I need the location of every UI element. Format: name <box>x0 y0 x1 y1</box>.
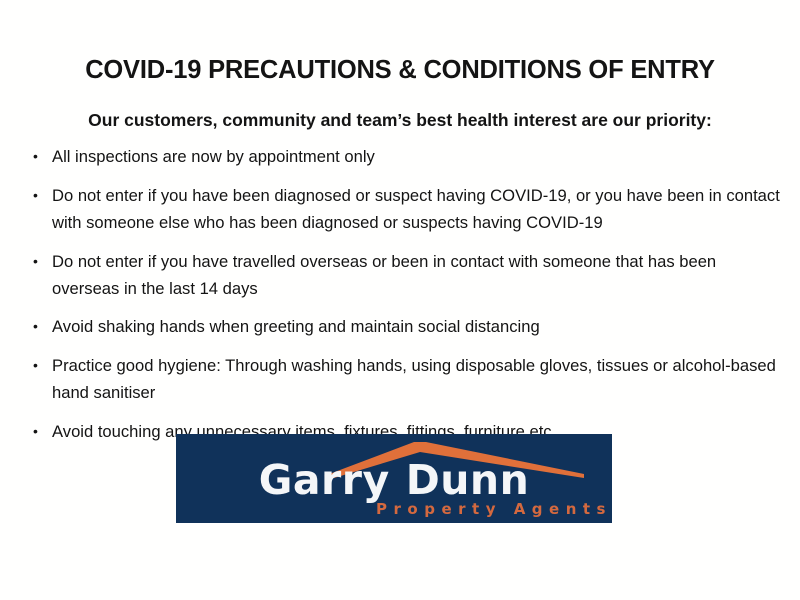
list-item-text: Practice good hygiene: Through washing h… <box>52 353 780 407</box>
list-item-text: Avoid shaking hands when greeting and ma… <box>52 314 780 341</box>
list-item: • Avoid shaking hands when greeting and … <box>28 314 780 341</box>
list-item-text: Do not enter if you have been diagnosed … <box>52 183 780 237</box>
precautions-list: • All inspections are now by appointment… <box>28 144 780 458</box>
logo-tagline: Property Agents <box>238 500 612 518</box>
bullet-marker-icon: • <box>33 353 38 377</box>
logo-name-last: Dunn <box>406 456 530 504</box>
logo-name-first: Garry <box>259 456 390 504</box>
list-item: • Practice good hygiene: Through washing… <box>28 353 780 407</box>
document-page: COVID-19 PRECAUTIONS & CONDITIONS OF ENT… <box>0 0 800 600</box>
list-item-text: All inspections are now by appointment o… <box>52 144 780 171</box>
bullet-marker-icon: • <box>33 249 38 273</box>
page-title: COVID-19 PRECAUTIONS & CONDITIONS OF ENT… <box>0 56 800 85</box>
page-subtitle: Our customers, community and team’s best… <box>0 110 800 131</box>
company-logo: GarryDunn Property Agents <box>176 434 612 523</box>
list-item: • All inspections are now by appointment… <box>28 144 780 171</box>
list-item-text: Do not enter if you have travelled overs… <box>52 249 780 303</box>
list-item: • Do not enter if you have been diagnose… <box>28 183 780 237</box>
logo-wordmark: GarryDunn <box>176 456 612 504</box>
bullet-marker-icon: • <box>33 144 38 168</box>
bullet-marker-icon: • <box>33 183 38 207</box>
bullet-marker-icon: • <box>33 314 38 338</box>
bullet-marker-icon: • <box>33 419 38 443</box>
list-item: • Do not enter if you have travelled ove… <box>28 249 780 303</box>
